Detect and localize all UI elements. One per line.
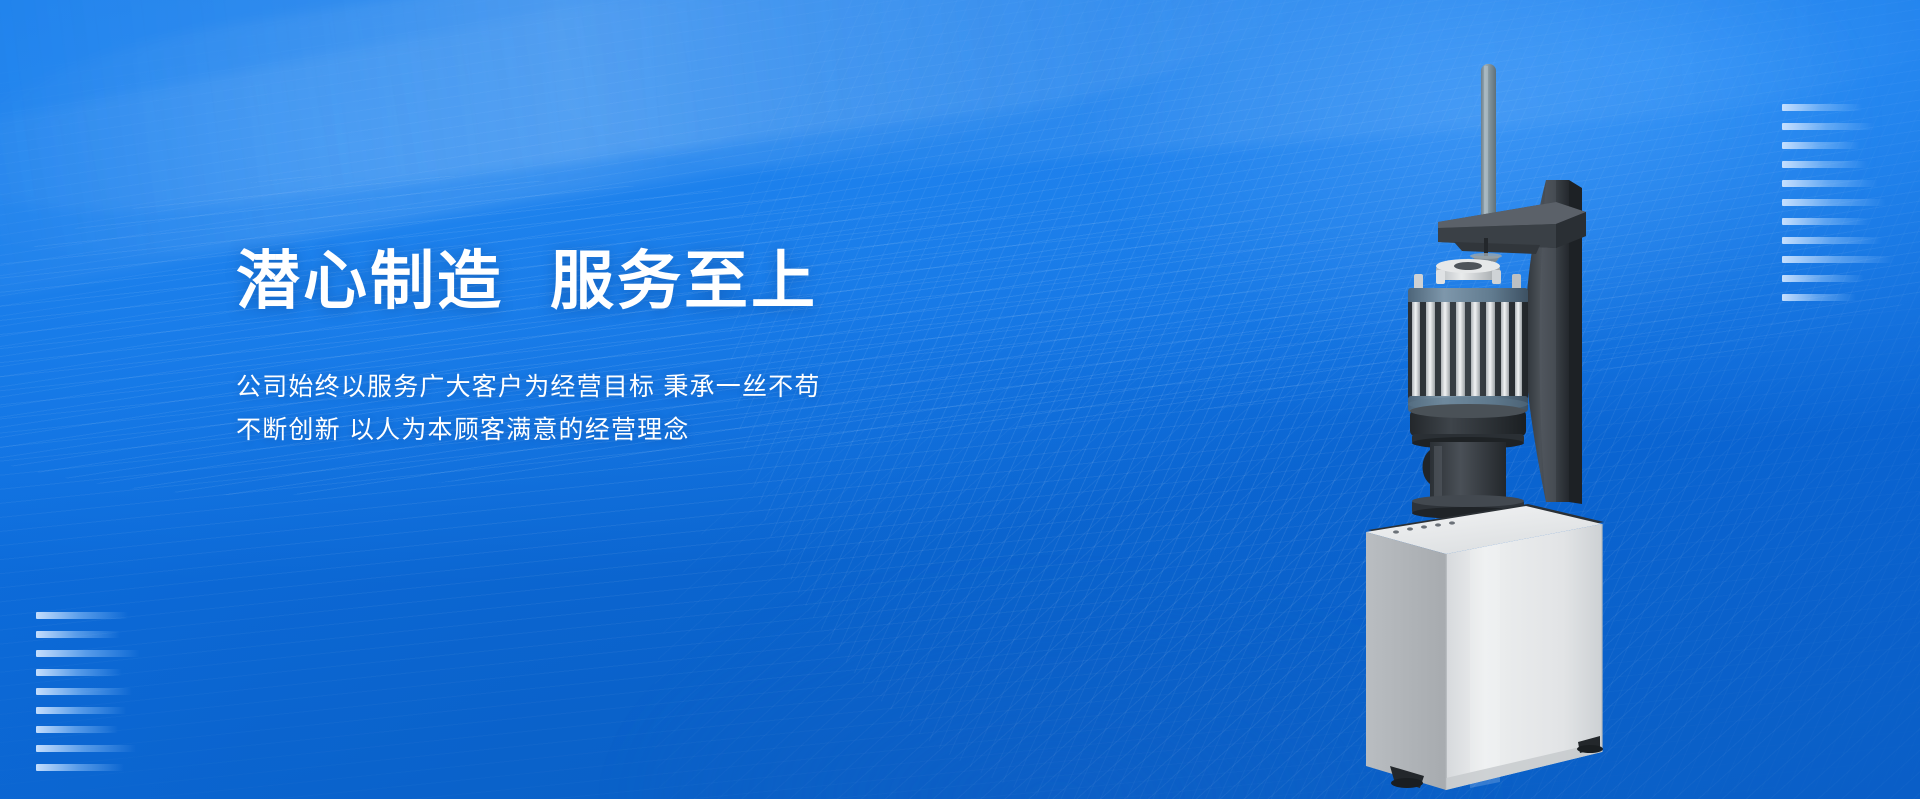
decor-bar: [1782, 180, 1878, 187]
decor-bar: [36, 745, 136, 752]
headline-part-2: 服务至上: [550, 246, 818, 318]
decor-bar: [36, 707, 126, 714]
decor-bar: [36, 688, 132, 695]
decor-bar: [1782, 104, 1862, 111]
decor-bar: [1782, 142, 1860, 149]
decor-bar: [36, 650, 140, 657]
decor-bar: [1782, 161, 1868, 168]
decor-bar: [1782, 218, 1870, 225]
light-ribbon: [0, 0, 1355, 250]
cabinet-base-part: [1366, 504, 1604, 790]
decor-bars-right: [1782, 104, 1894, 301]
decor-bar: [36, 631, 120, 638]
hero-copy: 潜心制造 服务至上 公司始终以服务广大客户为经营目标 秉承一丝不苟 不断创新 以…: [236, 246, 1136, 453]
finned-motor-housing-part: [1408, 259, 1528, 412]
page-title: 潜心制造 服务至上: [236, 246, 1136, 318]
decor-bars-left: [36, 612, 140, 771]
decor-bar: [1782, 294, 1856, 301]
decor-bar: [1782, 275, 1864, 282]
decor-bar: [36, 764, 124, 771]
guide-rod-part: [1481, 64, 1496, 222]
hero-banner: 潜心制造 服务至上 公司始终以服务广大客户为经营目标 秉承一丝不苟 不断创新 以…: [0, 0, 1920, 799]
decor-bar: [1782, 256, 1894, 263]
product-illustration: [1350, 52, 1650, 792]
hero-subtitle: 公司始终以服务广大客户为经营目标 秉承一丝不苟 不断创新 以人为本顾客满意的经营…: [236, 366, 1136, 453]
subtitle-line-1: 公司始终以服务广大客户为经营目标 秉承一丝不苟: [236, 366, 1136, 410]
decor-bar: [1782, 237, 1882, 244]
decor-bar: [36, 669, 122, 676]
decor-bar: [36, 726, 118, 733]
decor-bar: [1782, 199, 1886, 206]
decor-bar: [1782, 123, 1874, 130]
subtitle-line-2: 不断创新 以人为本顾客满意的经营理念: [236, 409, 1136, 453]
headline-part-1: 潜心制造: [236, 246, 504, 318]
light-ribbon: [490, 0, 1920, 197]
decor-bar: [36, 612, 128, 619]
